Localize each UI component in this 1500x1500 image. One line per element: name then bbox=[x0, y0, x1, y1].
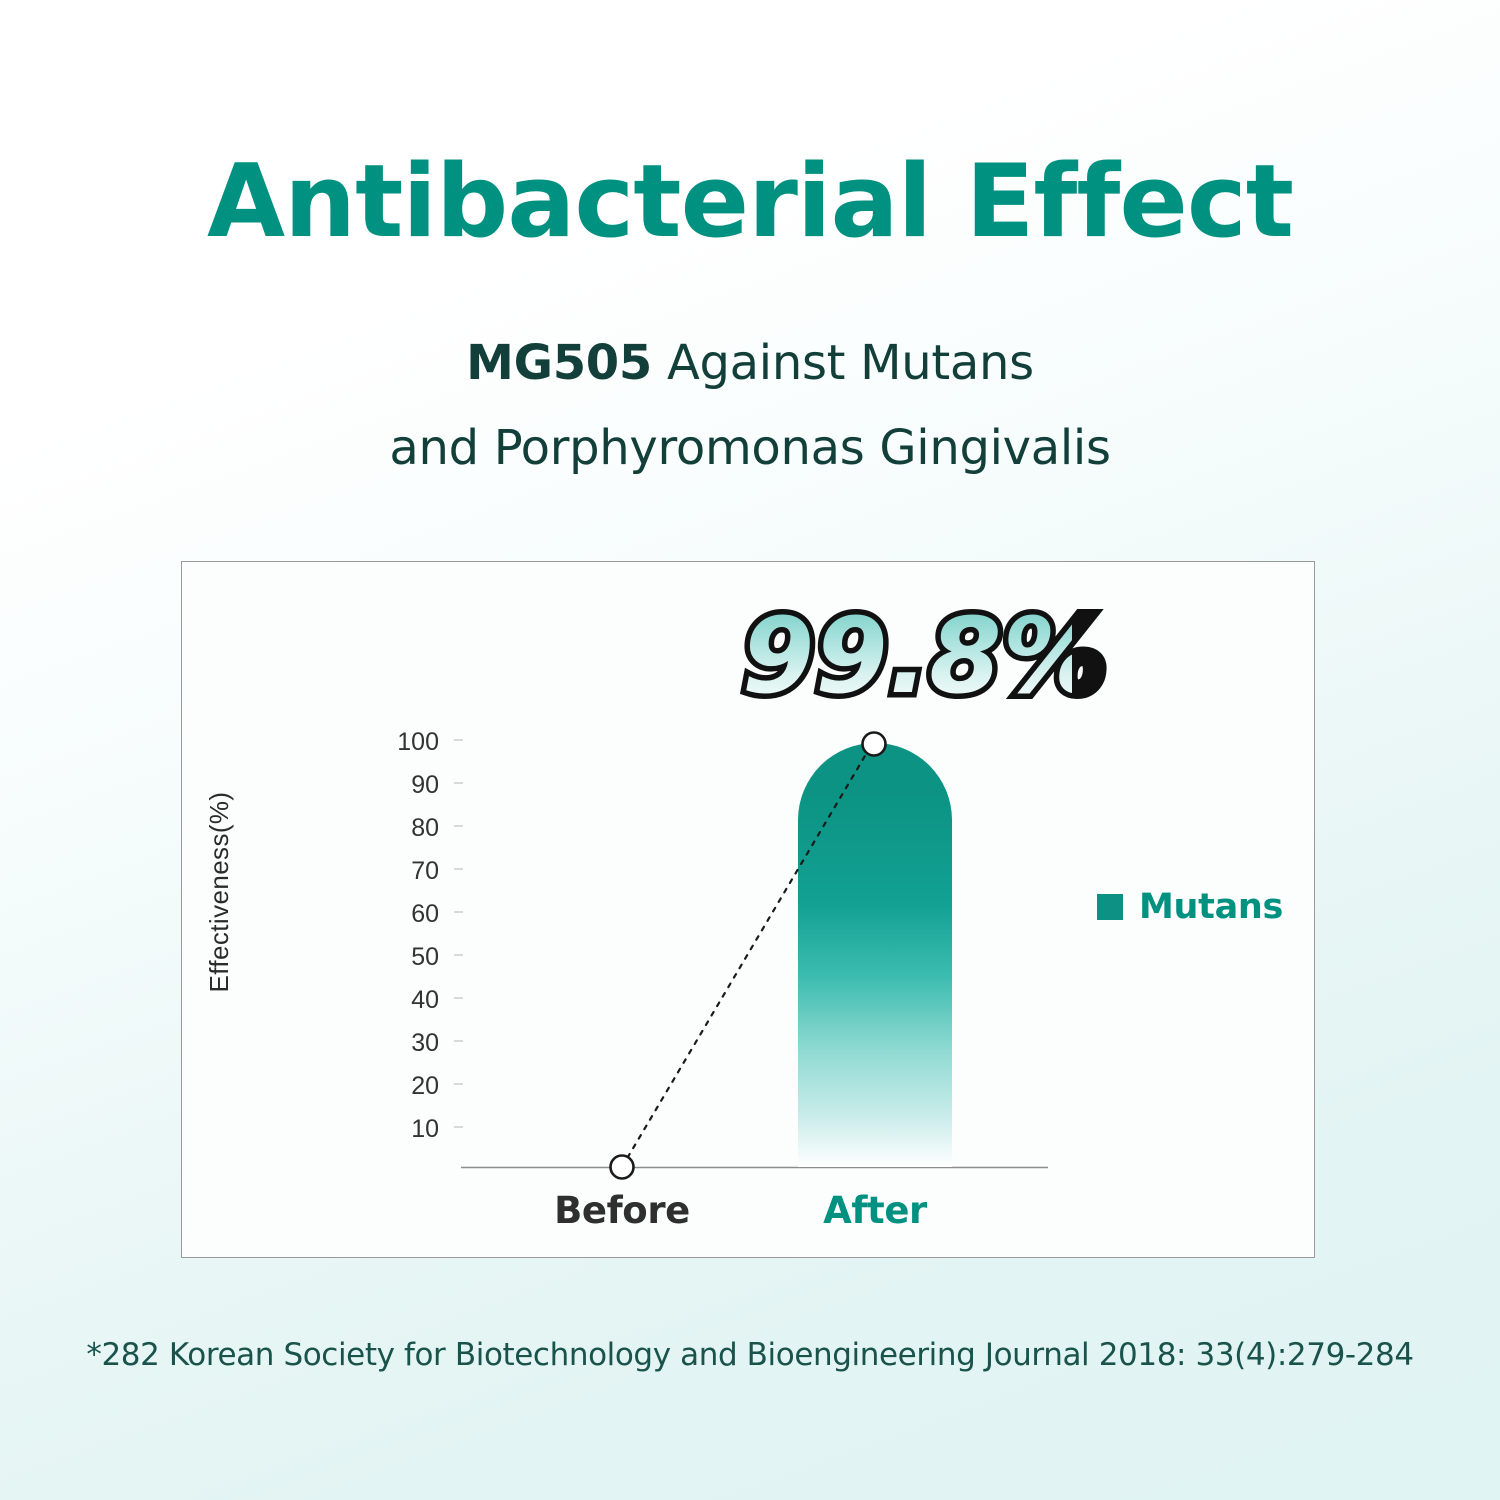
y-tick-label-90: 90 bbox=[377, 773, 439, 798]
legend-label-mutans: Mutans bbox=[1139, 887, 1283, 927]
y-tick-mark-70 bbox=[454, 868, 463, 870]
source-footnote: *282 Korean Society for Biotechnology an… bbox=[0, 1337, 1500, 1373]
y-tick-label-60: 60 bbox=[377, 902, 439, 927]
subtitle-line-1-rest: Against Mutans bbox=[652, 335, 1034, 391]
legend-swatch-mutans bbox=[1097, 894, 1123, 920]
y-tick-label-100: 100 bbox=[377, 730, 439, 755]
marker-before bbox=[611, 1156, 634, 1179]
y-tick-label-80: 80 bbox=[377, 816, 439, 841]
y-tick-label-50: 50 bbox=[377, 945, 439, 970]
poster-root: Antibacterial Effect MG505 Against Mutan… bbox=[0, 0, 1500, 1500]
page-title: Antibacterial Effect bbox=[0, 148, 1500, 255]
page-subtitle-line-2: and Porphyromonas Gingivalis bbox=[0, 415, 1500, 481]
y-tick-mark-40 bbox=[454, 997, 463, 999]
y-tick-mark-80 bbox=[454, 825, 463, 827]
y-tick-label-40: 40 bbox=[377, 988, 439, 1013]
y-tick-label-70: 70 bbox=[377, 859, 439, 884]
y-tick-mark-10 bbox=[454, 1126, 463, 1128]
y-axis-label: Effectiveness(%) bbox=[204, 762, 235, 1022]
y-tick-mark-90 bbox=[454, 782, 463, 784]
x-tick-label-before: Before bbox=[502, 1192, 742, 1229]
y-tick-label-20: 20 bbox=[377, 1074, 439, 1099]
chart-card: 99.8% 99.8% bbox=[181, 561, 1315, 1258]
y-tick-mark-20 bbox=[454, 1083, 463, 1085]
subtitle-product-name: MG505 bbox=[466, 335, 652, 391]
page-subtitle-line-1: MG505 Against Mutans bbox=[0, 330, 1500, 396]
y-tick-label-10: 10 bbox=[377, 1117, 439, 1142]
bar-after bbox=[798, 743, 952, 1167]
x-tick-label-after: After bbox=[755, 1192, 995, 1229]
y-tick-mark-100 bbox=[454, 739, 463, 741]
marker-after bbox=[863, 733, 886, 756]
chart-legend: Mutans bbox=[1097, 887, 1283, 927]
y-tick-mark-60 bbox=[454, 911, 463, 913]
y-tick-mark-50 bbox=[454, 954, 463, 956]
y-tick-mark-30 bbox=[454, 1040, 463, 1042]
chart-plot-area: 99.8% 99.8% bbox=[182, 562, 1316, 1259]
y-tick-label-30: 30 bbox=[377, 1031, 439, 1056]
